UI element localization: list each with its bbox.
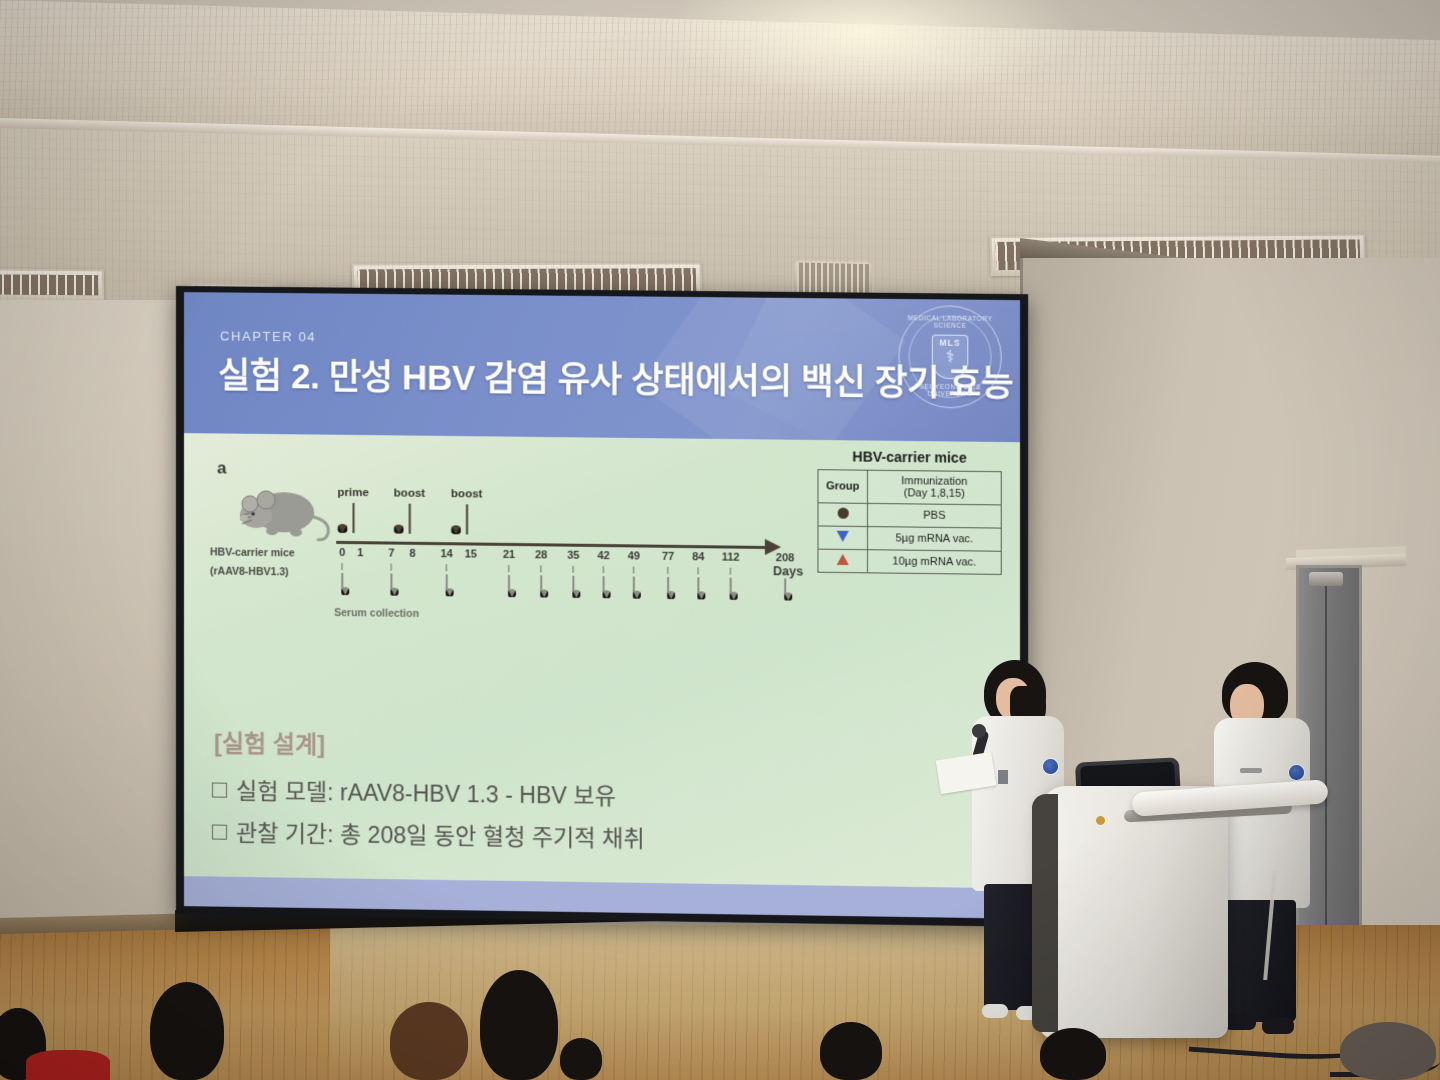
dose-label: boost <box>451 488 482 500</box>
audience-head <box>560 1038 602 1080</box>
logo-arc-top: MEDICAL LABORATORY SCIENCE <box>899 315 1000 330</box>
projected-slide: CHAPTER 04 실험 2. 만성 HBV 감염 유사 상태에서의 백신 장… <box>184 292 1020 919</box>
folding-stand <box>1207 870 1277 980</box>
circle-marker-icon <box>837 508 848 519</box>
dose-arrow-shaft <box>352 503 354 533</box>
checkbox-icon <box>212 825 227 840</box>
tick-mark <box>573 566 574 573</box>
dose-marker-prime: prime <box>338 487 369 533</box>
tick-mark <box>540 565 541 572</box>
triangle-up-marker-icon <box>837 554 849 565</box>
coat-emblem <box>1288 764 1305 781</box>
lectern-lock-icon[interactable] <box>1096 816 1105 825</box>
treatment-cell: PBS <box>868 503 1002 528</box>
dose-arrow-shaft <box>466 504 468 534</box>
coat-emblem <box>1042 758 1059 775</box>
table-row: PBS <box>818 503 1001 528</box>
tick-label: 49 <box>628 550 640 562</box>
logo-arc-bottom: SEOYEONG 1978 UNIVERSITY <box>899 384 1000 399</box>
panel-letter-a: a <box>217 458 226 478</box>
dose-marker-boost-1: boost <box>394 487 425 533</box>
door-closer-icon <box>1309 572 1343 586</box>
serum-collection-arrow <box>784 578 786 600</box>
dose-label: boost <box>394 487 425 499</box>
tick-mark <box>508 565 509 572</box>
design-bullet-1-text: 실험 모델: rAAV8-HBV 1.3 - HBV 보유 <box>236 778 616 809</box>
tick-label: 77 <box>662 551 674 563</box>
serum-collection-arrow <box>341 573 343 595</box>
microphone-head-icon <box>972 724 986 738</box>
dose-marker-boost-2: boost <box>451 488 482 534</box>
slide-header-band: CHAPTER 04 실험 2. 만성 HBV 감염 유사 상태에서의 백신 장… <box>184 292 1020 442</box>
mouse-label-line1: HBV-carrier mice <box>210 546 295 559</box>
screenshot-root: CHAPTER 04 실험 2. 만성 HBV 감염 유사 상태에서의 백신 장… <box>0 0 1440 1080</box>
serum-collection-arrow <box>540 575 542 597</box>
table-title: HBV-carrier mice <box>817 448 1001 466</box>
serum-collection-arrow <box>508 575 510 597</box>
dose-arrow-head-icon <box>338 524 348 533</box>
tick-label: 7 <box>388 548 394 560</box>
tick-label: 21 <box>503 549 515 561</box>
header-group: Group <box>818 470 868 504</box>
logo-shield-text: MLS <box>939 338 960 348</box>
slide-body: a <box>184 433 1020 888</box>
design-section-heading: [실험 설계] <box>214 724 325 761</box>
tick-label: 1 <box>357 547 363 559</box>
audience-head <box>150 982 224 1080</box>
lectern-side-panel <box>1032 794 1058 1032</box>
tick-label: 0 <box>339 547 345 559</box>
mouse-icon <box>226 482 336 543</box>
tick-mark <box>603 566 604 573</box>
lectern[interactable] <box>1040 786 1228 1038</box>
design-bullet-1: 실험 모델: rAAV8-HBV 1.3 - HBV 보유 <box>212 771 616 811</box>
tick-label: 112 <box>722 551 740 563</box>
tick-mark <box>633 566 634 573</box>
serum-collection-arrow <box>697 577 699 599</box>
serum-collection-arrow <box>730 578 732 600</box>
design-bullet-2: 관찰 기간: 총 208일 동안 혈청 주기적 채취 <box>212 814 645 854</box>
serum-collection-arrow <box>633 577 635 599</box>
hbv-carrier-mice-table: HBV-carrier mice Group Immunization (Day… <box>817 448 1001 575</box>
tick-mark <box>342 563 343 570</box>
fluorescent-light <box>0 268 104 301</box>
header-immunization: Immunization (Day 1,8,15) <box>868 470 1002 505</box>
audience-shoulder <box>26 1050 110 1080</box>
tick-mark <box>730 568 731 575</box>
audience-head <box>1040 1028 1106 1080</box>
audience-head <box>390 1002 468 1080</box>
serum-collection-arrow <box>667 577 669 599</box>
tick-label: 208 <box>776 552 795 564</box>
timeline-axis <box>336 541 769 549</box>
lecture-hall-room: CHAPTER 04 실험 2. 만성 HBV 감염 유사 상태에서의 백신 장… <box>0 0 1440 1080</box>
tick-mark <box>698 567 699 574</box>
tick-label: 8 <box>409 548 415 560</box>
serum-collection-arrow <box>446 574 448 596</box>
tick-label: 84 <box>692 551 704 563</box>
group-symbol-cell <box>818 526 868 550</box>
tick-mark <box>667 567 668 574</box>
checkbox-icon <box>212 783 227 798</box>
treatment-cell: 10µg mRNA vac. <box>868 550 1002 575</box>
table-row: 5µg mRNA vac. <box>818 526 1001 551</box>
dose-arrow-shaft <box>408 504 410 534</box>
tick-label: 35 <box>567 550 579 562</box>
shoe <box>982 1004 1008 1018</box>
tick-mark <box>446 564 447 571</box>
experiment-timeline: Days prime boost boost <box>336 475 787 646</box>
audience-head <box>1340 1022 1436 1080</box>
serum-collection-arrow <box>572 576 574 598</box>
university-logo: MEDICAL LABORATORY SCIENCE SEOYEONG 1978… <box>898 305 1001 409</box>
dose-arrow-head-icon <box>394 525 404 534</box>
group-symbol-cell <box>818 549 868 573</box>
logo-shield-icon: MLS ⚕ <box>932 335 968 380</box>
header-immunization-line2: (Day 1,8,15) <box>870 487 999 501</box>
tick-label: 14 <box>440 548 452 560</box>
projection-screen-frame: CHAPTER 04 실험 2. 만성 HBV 감염 유사 상태에서의 백신 장… <box>176 286 1028 927</box>
table-row: 10µg mRNA vac. <box>818 549 1001 574</box>
name-embroidery <box>1240 768 1262 773</box>
tick-label: 28 <box>535 549 547 561</box>
serum-collection-arrow <box>390 574 392 596</box>
mouse-label-line2: (rAAV8-HBV1.3) <box>210 565 289 578</box>
audience-head <box>480 970 558 1080</box>
dose-label: prime <box>338 487 369 499</box>
serum-collection-arrow <box>603 576 605 598</box>
serum-collection-label: Serum collection <box>334 607 419 620</box>
chapter-label: CHAPTER 04 <box>220 328 316 344</box>
tick-label: 42 <box>597 550 609 562</box>
treatment-cell: 5µg mRNA vac. <box>868 527 1002 552</box>
triangle-down-marker-icon <box>837 531 849 542</box>
table-header-row: Group Immunization (Day 1,8,15) <box>818 470 1001 505</box>
tick-label: 15 <box>465 548 477 560</box>
dose-arrow-head-icon <box>451 525 461 534</box>
tick-mark <box>784 568 785 575</box>
tick-mark <box>391 564 392 571</box>
name-badge <box>998 770 1008 784</box>
days-axis-label: Days <box>773 564 803 578</box>
audience-head <box>820 1022 882 1080</box>
design-bullet-2-text: 관찰 기간: 총 208일 동안 혈청 주기적 채취 <box>236 820 645 852</box>
group-symbol-cell <box>818 503 868 527</box>
caduceus-icon: ⚕ <box>946 350 955 366</box>
